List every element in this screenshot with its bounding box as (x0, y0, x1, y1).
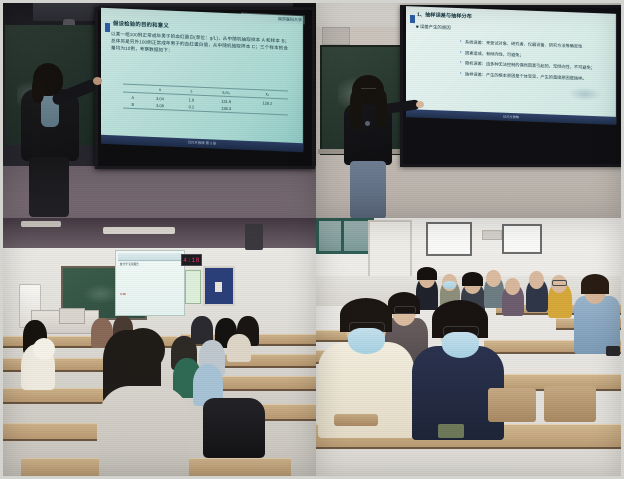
slide-title-accent-bar (105, 23, 110, 32)
cell-r1c2: 0.2 (177, 103, 205, 112)
presenter-hand (416, 101, 424, 108)
face-mask (442, 332, 479, 358)
desk-row (3, 388, 109, 404)
student-head (529, 271, 544, 289)
photo-collage: 假设检验的目的和意义 以某一组100例正常成年男子的血红蛋白(单位：g/L)，从… (0, 0, 624, 479)
wall-notice-green (185, 270, 201, 304)
student-head (505, 278, 520, 295)
presenter-shirt-logo (365, 121, 370, 126)
photo-panel-bottom-left: 统计学 实验报告 4:18 4:18 (3, 218, 316, 476)
ceiling-light (21, 221, 61, 227)
led-clock-display: 4:18 (181, 254, 202, 266)
photo-panel-top-right: 1、抽样误差与抽样分布 ■ 误差产生的原因 系统误差：来受试对象、研究者、仪器设… (316, 3, 621, 218)
cell-r1c3: 138.3 (205, 104, 246, 114)
cell-r1c0: B (123, 100, 143, 109)
slide-header-bar (118, 253, 182, 261)
instructor-hair-strand (32, 77, 44, 103)
chair (334, 414, 378, 426)
student-hair (462, 272, 483, 286)
instructor-legs (29, 157, 69, 217)
wall-speaker-icon (245, 224, 263, 250)
wall-poster (426, 222, 472, 256)
door (368, 220, 412, 280)
bulletin-board-blue (203, 266, 235, 306)
presenter-hair-left (350, 91, 362, 129)
window-frame-bar (341, 221, 344, 251)
presenter-jeans (350, 161, 386, 218)
instructor-hand (93, 77, 102, 85)
face-mask (348, 328, 385, 354)
foreground-student-head (121, 328, 165, 372)
desk-row (3, 423, 97, 441)
student-head (486, 270, 501, 287)
wall-vent-icon (322, 27, 350, 45)
podium (59, 308, 85, 324)
foreground-student-hoodie (99, 386, 189, 476)
window (316, 218, 374, 254)
photo-panel-top-left: 假设检验的目的和意义 以某一组100例正常成年男子的血红蛋白(单位：g/L)，从… (3, 3, 316, 218)
glasses-icon (552, 280, 567, 286)
smartphone (606, 346, 620, 356)
presenter-glasses-icon (361, 88, 376, 93)
slide-highlight-text: 4:18 (120, 292, 126, 296)
ceiling-light (103, 227, 175, 234)
projection-screen: 统计学 实验报告 4:18 (115, 250, 185, 316)
chair (544, 386, 596, 422)
cell-r1c1: 3.08 (143, 101, 178, 110)
photo-panel-bottom-right (316, 218, 621, 476)
student-hood (33, 338, 55, 360)
presenter-hair-right (376, 91, 387, 127)
cell-r1c4 (247, 105, 288, 115)
slide-bullet-list: 系统误差：来受试对象、研究者、仪器设备、研究方法等确定性 因素造成，有倾向性，可… (420, 37, 621, 87)
backpack (203, 398, 265, 458)
student-silhouette (227, 334, 251, 362)
student-presenter-figure (338, 75, 400, 218)
face-mask (443, 281, 456, 289)
slide-watermark (568, 86, 602, 101)
student-hair (581, 274, 609, 294)
glasses-icon (394, 306, 416, 314)
wall-poster (502, 224, 542, 254)
slide-title-accent-bar (410, 15, 415, 23)
student-hair (417, 267, 437, 280)
instructor-figure (15, 65, 89, 215)
wall-vent-icon (482, 230, 502, 240)
chair (488, 388, 536, 422)
smartphone (438, 424, 464, 438)
slide-body-text: 统计学 实验报告 (120, 263, 180, 266)
